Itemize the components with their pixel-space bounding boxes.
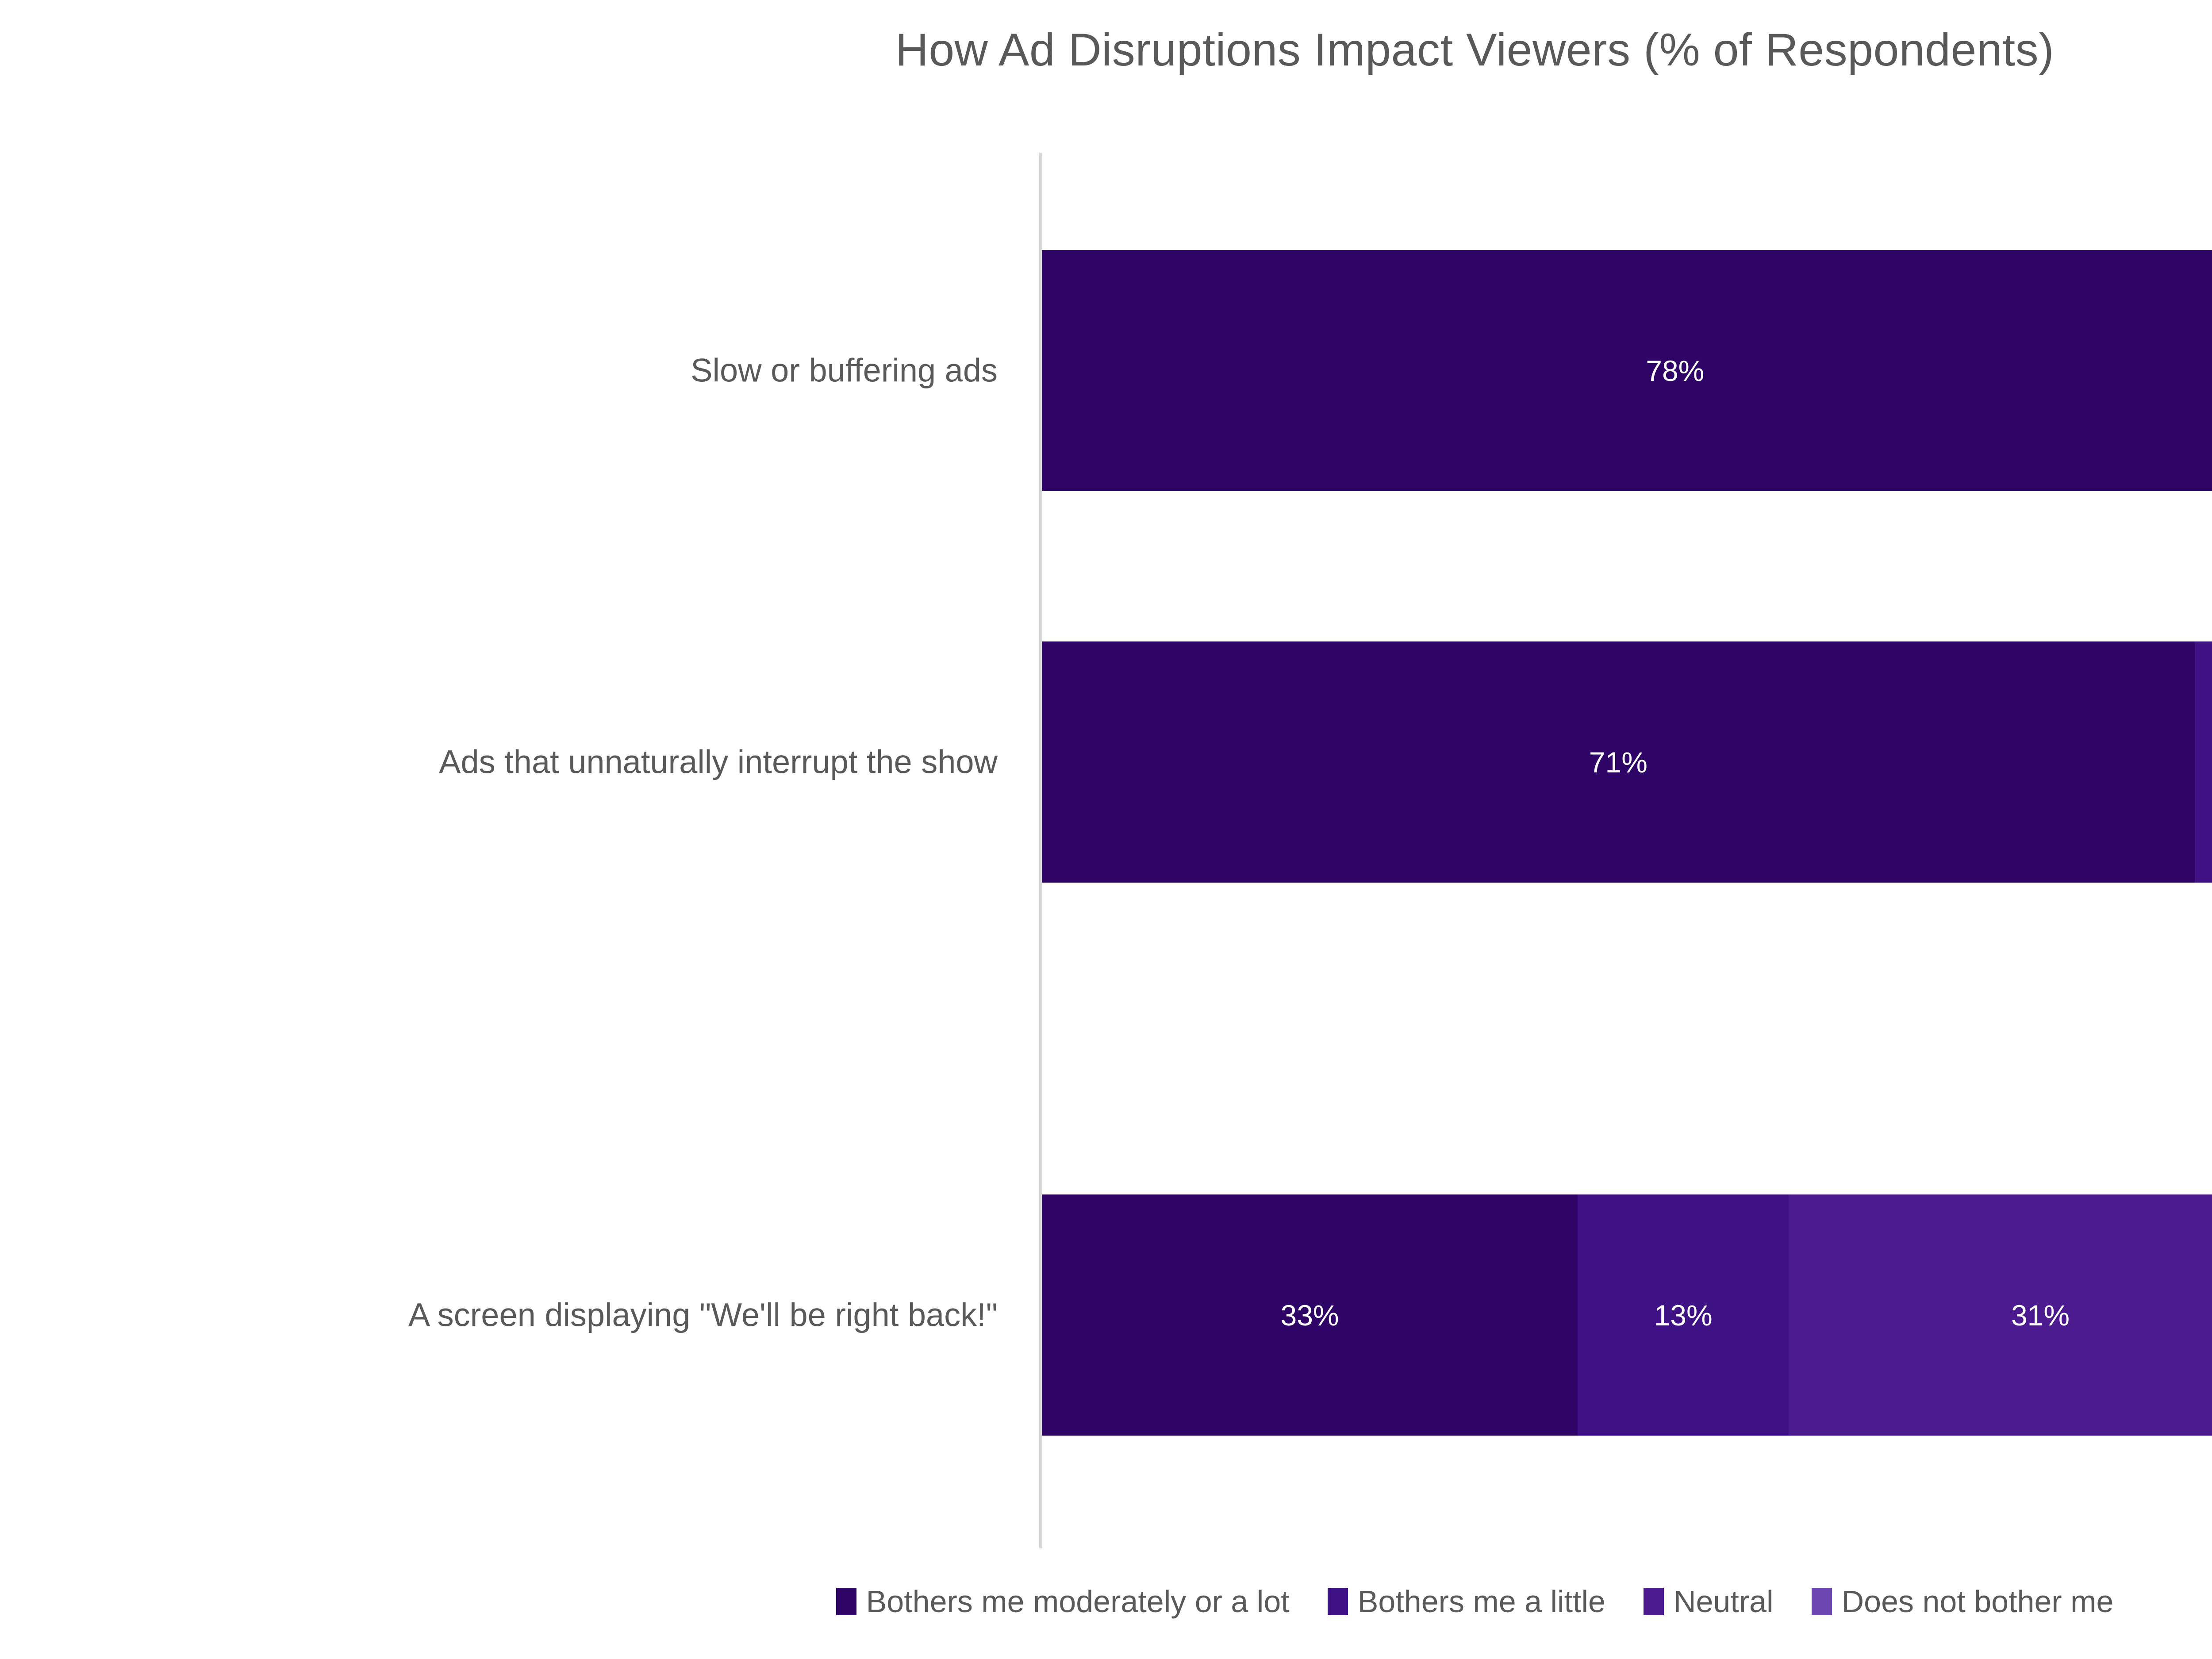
category-axis-labels: Slow or buffering adsAds that unnaturall… (0, 153, 998, 1548)
legend-item[interactable]: Neutral (1644, 1586, 1774, 1617)
bar-segment-value-label: 13% (1654, 1301, 1713, 1330)
bar-segment[interactable]: 13% (1578, 1194, 1789, 1436)
legend-swatch-icon (1328, 1588, 1348, 1615)
bar-segment-value-label: 33% (1280, 1301, 1339, 1330)
bar-segment[interactable]: 31% (1789, 1194, 2212, 1436)
legend-label: Does not bother me (1842, 1586, 2114, 1617)
legend-item[interactable]: Bothers me moderately or a lot (836, 1586, 1290, 1617)
bar-segment[interactable]: 71% (1042, 641, 2195, 883)
bar-segment[interactable]: 13% (2195, 641, 2212, 883)
bar-row: 71%13%10%6% (1042, 641, 2212, 883)
legend-label: Bothers me moderately or a lot (866, 1586, 1290, 1617)
bar-row: 33%13%31%23% (1042, 1194, 2212, 1436)
bar-row: 78%11%7%4% (1042, 250, 2212, 491)
legend-item[interactable]: Bothers me a little (1328, 1586, 1605, 1617)
category-label: Ads that unnaturally interrupt the show (0, 742, 998, 782)
bar-segment-value-label: 31% (2011, 1301, 2070, 1330)
chart-title: How Ad Disruptions Impact Viewers (% of … (0, 21, 2212, 79)
bar-segment[interactable]: 78% (1042, 250, 2212, 491)
category-label: A screen displaying "We'll be right back… (0, 1295, 998, 1335)
legend-swatch-icon (1644, 1588, 1664, 1615)
legend-swatch-icon (836, 1588, 856, 1615)
bar-segment[interactable]: 33% (1042, 1194, 1578, 1436)
bar-segment-value-label: 71% (1589, 748, 1647, 777)
legend-item[interactable]: Does not bother me (1812, 1586, 2114, 1617)
legend-swatch-icon (1812, 1588, 1832, 1615)
plot-area: 78%11%7%4%71%13%10%6%33%13%31%23% (1042, 153, 2212, 1548)
legend-label: Bothers me a little (1358, 1586, 1605, 1617)
chart-canvas: How Ad Disruptions Impact Viewers (% of … (0, 0, 2212, 1659)
bar-segment-value-label: 78% (1646, 356, 1704, 385)
category-label: Slow or buffering ads (0, 351, 998, 390)
chart-legend: Bothers me moderately or a lotBothers me… (0, 1586, 2212, 1617)
legend-label: Neutral (1674, 1586, 1774, 1617)
